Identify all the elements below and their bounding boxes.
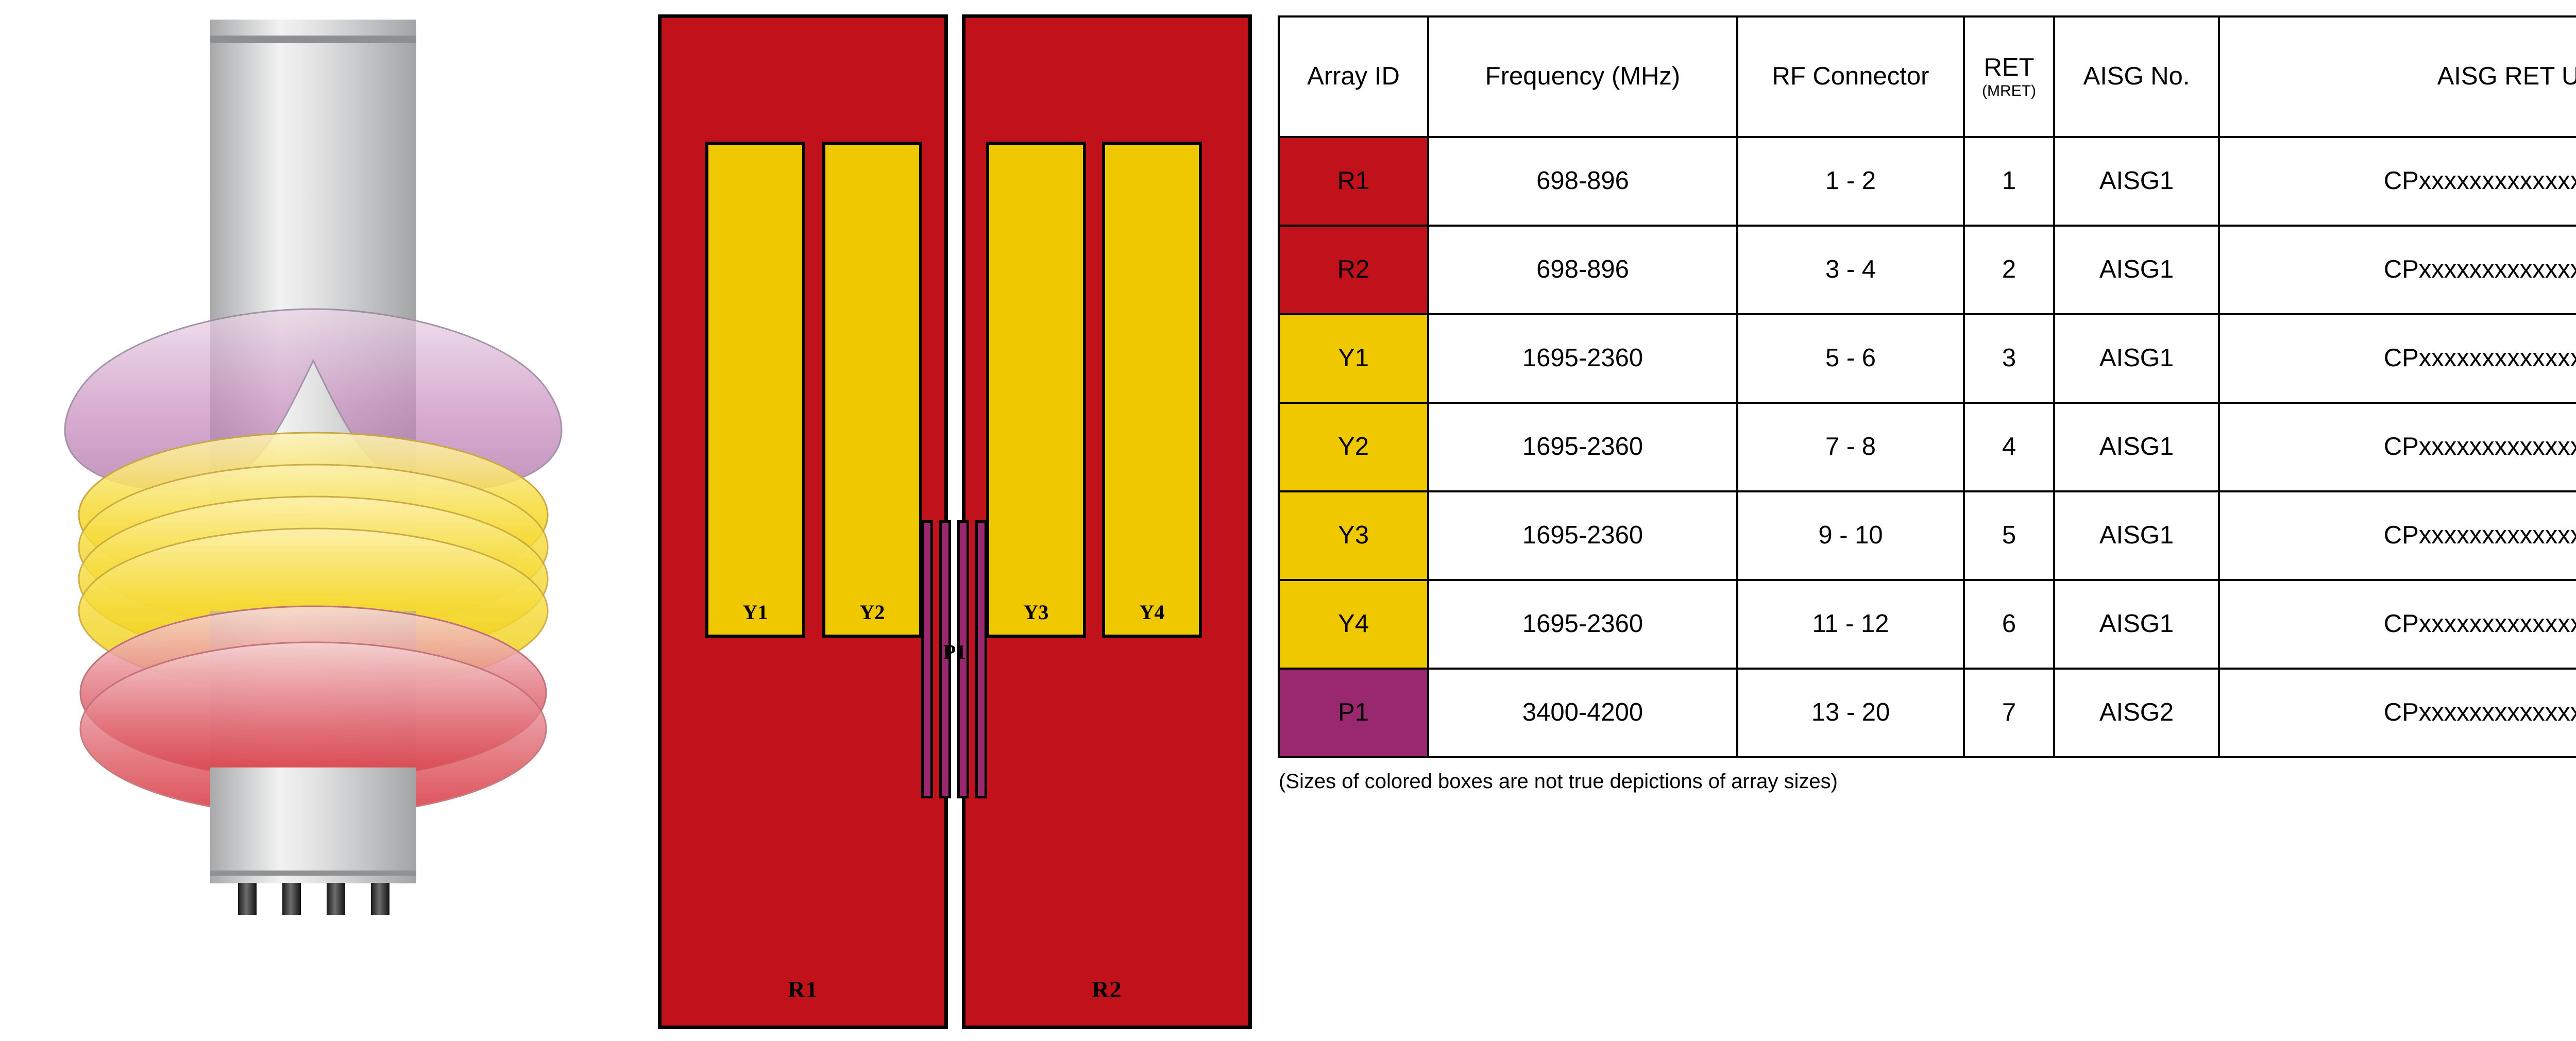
cell-frequency: 1695-2360 <box>1428 491 1737 580</box>
cell-array-id: Y4 <box>1279 580 1428 669</box>
cell-aisg-ret-uid: CPxxxxxxxxxxxxxxMM.1 <box>2219 669 2576 757</box>
cell-aisg-no: AISG1 <box>2054 491 2219 580</box>
cell-aisg-no: AISG1 <box>2054 314 2219 403</box>
cell-rf-connector: 7 - 8 <box>1737 403 1964 491</box>
array-spec-table: Array ID Frequency (MHz) RF Connector RE… <box>1278 15 2576 758</box>
cell-rf-connector: 5 - 6 <box>1737 314 1964 403</box>
cell-array-id: Y2 <box>1279 403 1428 491</box>
col-header-rf-connector: RF Connector <box>1737 16 1964 137</box>
cell-aisg-ret-uid: CPxxxxxxxxxxxxxxMM.1 <box>2219 137 2576 226</box>
cell-frequency: 3400-4200 <box>1428 669 1737 757</box>
array-block-label-y1: Y1 <box>708 600 802 624</box>
cell-ret: 1 <box>1964 137 2054 226</box>
array-block-label-y3: Y3 <box>989 600 1083 624</box>
cell-aisg-no: AISG1 <box>2054 580 2219 669</box>
array-block-label-y2: Y2 <box>825 600 919 624</box>
col-header-frequency: Frequency (MHz) <box>1428 16 1737 137</box>
cell-ret: 7 <box>1964 669 2054 757</box>
antenna-base-icon <box>210 767 416 883</box>
cell-aisg-no: AISG1 <box>2054 137 2219 226</box>
table-row: R1 698-896 1 - 2 1 AISG1 CPxxxxxxxxxxxxx… <box>1279 137 2576 226</box>
cell-array-id: Y1 <box>1279 314 1428 403</box>
col-header-aisg-ret-uid: AISG RET UID <box>2219 16 2576 137</box>
table-row: Y1 1695-2360 5 - 6 3 AISG1 CPxxxxxxxxxxx… <box>1279 314 2576 403</box>
col-header-ret: RET (MRET) <box>1964 16 2054 137</box>
cell-aisg-ret-uid: CPxxxxxxxxxxxxxxMM.6 <box>2219 580 2576 669</box>
cell-aisg-ret-uid: CPxxxxxxxxxxxxxxMM.5 <box>2219 491 2576 580</box>
cell-frequency: 1695-2360 <box>1428 580 1737 669</box>
cell-aisg-ret-uid: CPxxxxxxxxxxxxxxMM.2 <box>2219 226 2576 314</box>
array-panel-diagram: Y1 Y2 R1 Y3 Y4 R2 P1 <box>647 0 1265 1038</box>
cell-array-id: Y3 <box>1279 491 1428 580</box>
table-footnote: (Sizes of colored boxes are not true dep… <box>1279 770 1838 793</box>
table-row: P1 3400-4200 13 - 20 7 AISG2 CPxxxxxxxxx… <box>1279 669 2576 757</box>
cell-ret: 2 <box>1964 226 2054 314</box>
array-block-y2[interactable]: Y2 <box>822 142 922 638</box>
antenna-beam-illustration <box>0 0 639 1038</box>
table-row: Y3 1695-2360 9 - 10 5 AISG1 CPxxxxxxxxxx… <box>1279 491 2576 580</box>
array-block-label-y4: Y4 <box>1105 600 1199 624</box>
cell-array-id: P1 <box>1279 669 1428 757</box>
cell-aisg-no: AISG2 <box>2054 669 2219 757</box>
cell-frequency: 1695-2360 <box>1428 314 1737 403</box>
cell-array-id: R2 <box>1279 226 1428 314</box>
cell-aisg-no: AISG1 <box>2054 226 2219 314</box>
cell-rf-connector: 3 - 4 <box>1737 226 1964 314</box>
cell-rf-connector: 9 - 10 <box>1737 491 1964 580</box>
array-block-y3[interactable]: Y3 <box>986 142 1086 638</box>
cell-rf-connector: 13 - 20 <box>1737 669 1964 757</box>
array-panel-r1[interactable]: Y1 Y2 R1 <box>658 14 948 1029</box>
cell-frequency: 698-896 <box>1428 137 1737 226</box>
cell-array-id: R1 <box>1279 137 1428 226</box>
table-header-row: Array ID Frequency (MHz) RF Connector RE… <box>1279 16 2576 137</box>
array-panel-r2[interactable]: Y3 Y4 R2 <box>962 14 1252 1029</box>
array-block-p1[interactable]: P1 <box>921 520 988 798</box>
table-body: R1 698-896 1 - 2 1 AISG1 CPxxxxxxxxxxxxx… <box>1279 137 2576 757</box>
col-header-aisg-no: AISG No. <box>2054 16 2219 137</box>
cell-frequency: 1695-2360 <box>1428 403 1737 491</box>
table-row: Y2 1695-2360 7 - 8 4 AISG1 CPxxxxxxxxxxx… <box>1279 403 2576 491</box>
array-block-y1[interactable]: Y1 <box>705 142 805 638</box>
cell-rf-connector: 11 - 12 <box>1737 580 1964 669</box>
array-spec-table-container: Array ID Frequency (MHz) RF Connector RE… <box>1278 15 2576 758</box>
array-block-y4[interactable]: Y4 <box>1102 142 1202 638</box>
cell-rf-connector: 1 - 2 <box>1737 137 1964 226</box>
cell-ret: 5 <box>1964 491 2054 580</box>
col-header-ret-main: RET <box>1965 55 2053 81</box>
table-row: Y4 1695-2360 11 - 12 6 AISG1 CPxxxxxxxxx… <box>1279 580 2576 669</box>
array-panel-label-r2: R2 <box>965 976 1248 1003</box>
connector-pins-icon <box>238 883 389 915</box>
col-header-ret-sub: (MRET) <box>1965 83 2053 99</box>
col-header-array-id: Array ID <box>1279 16 1428 137</box>
array-block-label-p1: P1 <box>911 640 998 664</box>
cell-ret: 4 <box>1964 403 2054 491</box>
cell-frequency: 698-896 <box>1428 226 1737 314</box>
cell-aisg-no: AISG1 <box>2054 403 2219 491</box>
cell-ret: 6 <box>1964 580 2054 669</box>
cell-ret: 3 <box>1964 314 2054 403</box>
cell-aisg-ret-uid: CPxxxxxxxxxxxxxxMM.3 <box>2219 314 2576 403</box>
table-row: R2 698-896 3 - 4 2 AISG1 CPxxxxxxxxxxxxx… <box>1279 226 2576 314</box>
cell-aisg-ret-uid: CPxxxxxxxxxxxxxxMM.4 <box>2219 403 2576 491</box>
array-panel-label-r1: R1 <box>662 976 944 1003</box>
